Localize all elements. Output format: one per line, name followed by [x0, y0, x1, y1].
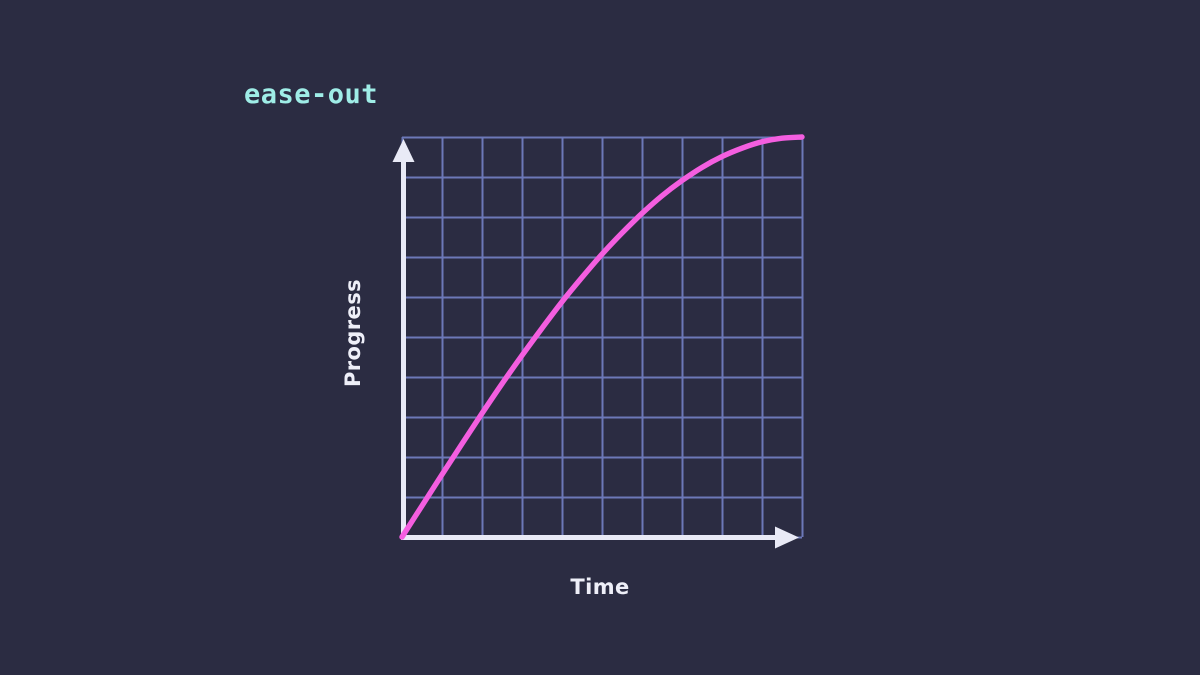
- easing-curve-figure: ease-out Time Progress: [0, 0, 1200, 675]
- chart-canvas: ease-out Time Progress: [0, 0, 1200, 675]
- x-axis-label: Time: [570, 575, 629, 599]
- y-axis-label: Progress: [341, 279, 365, 387]
- page-title: ease-out: [244, 79, 378, 110]
